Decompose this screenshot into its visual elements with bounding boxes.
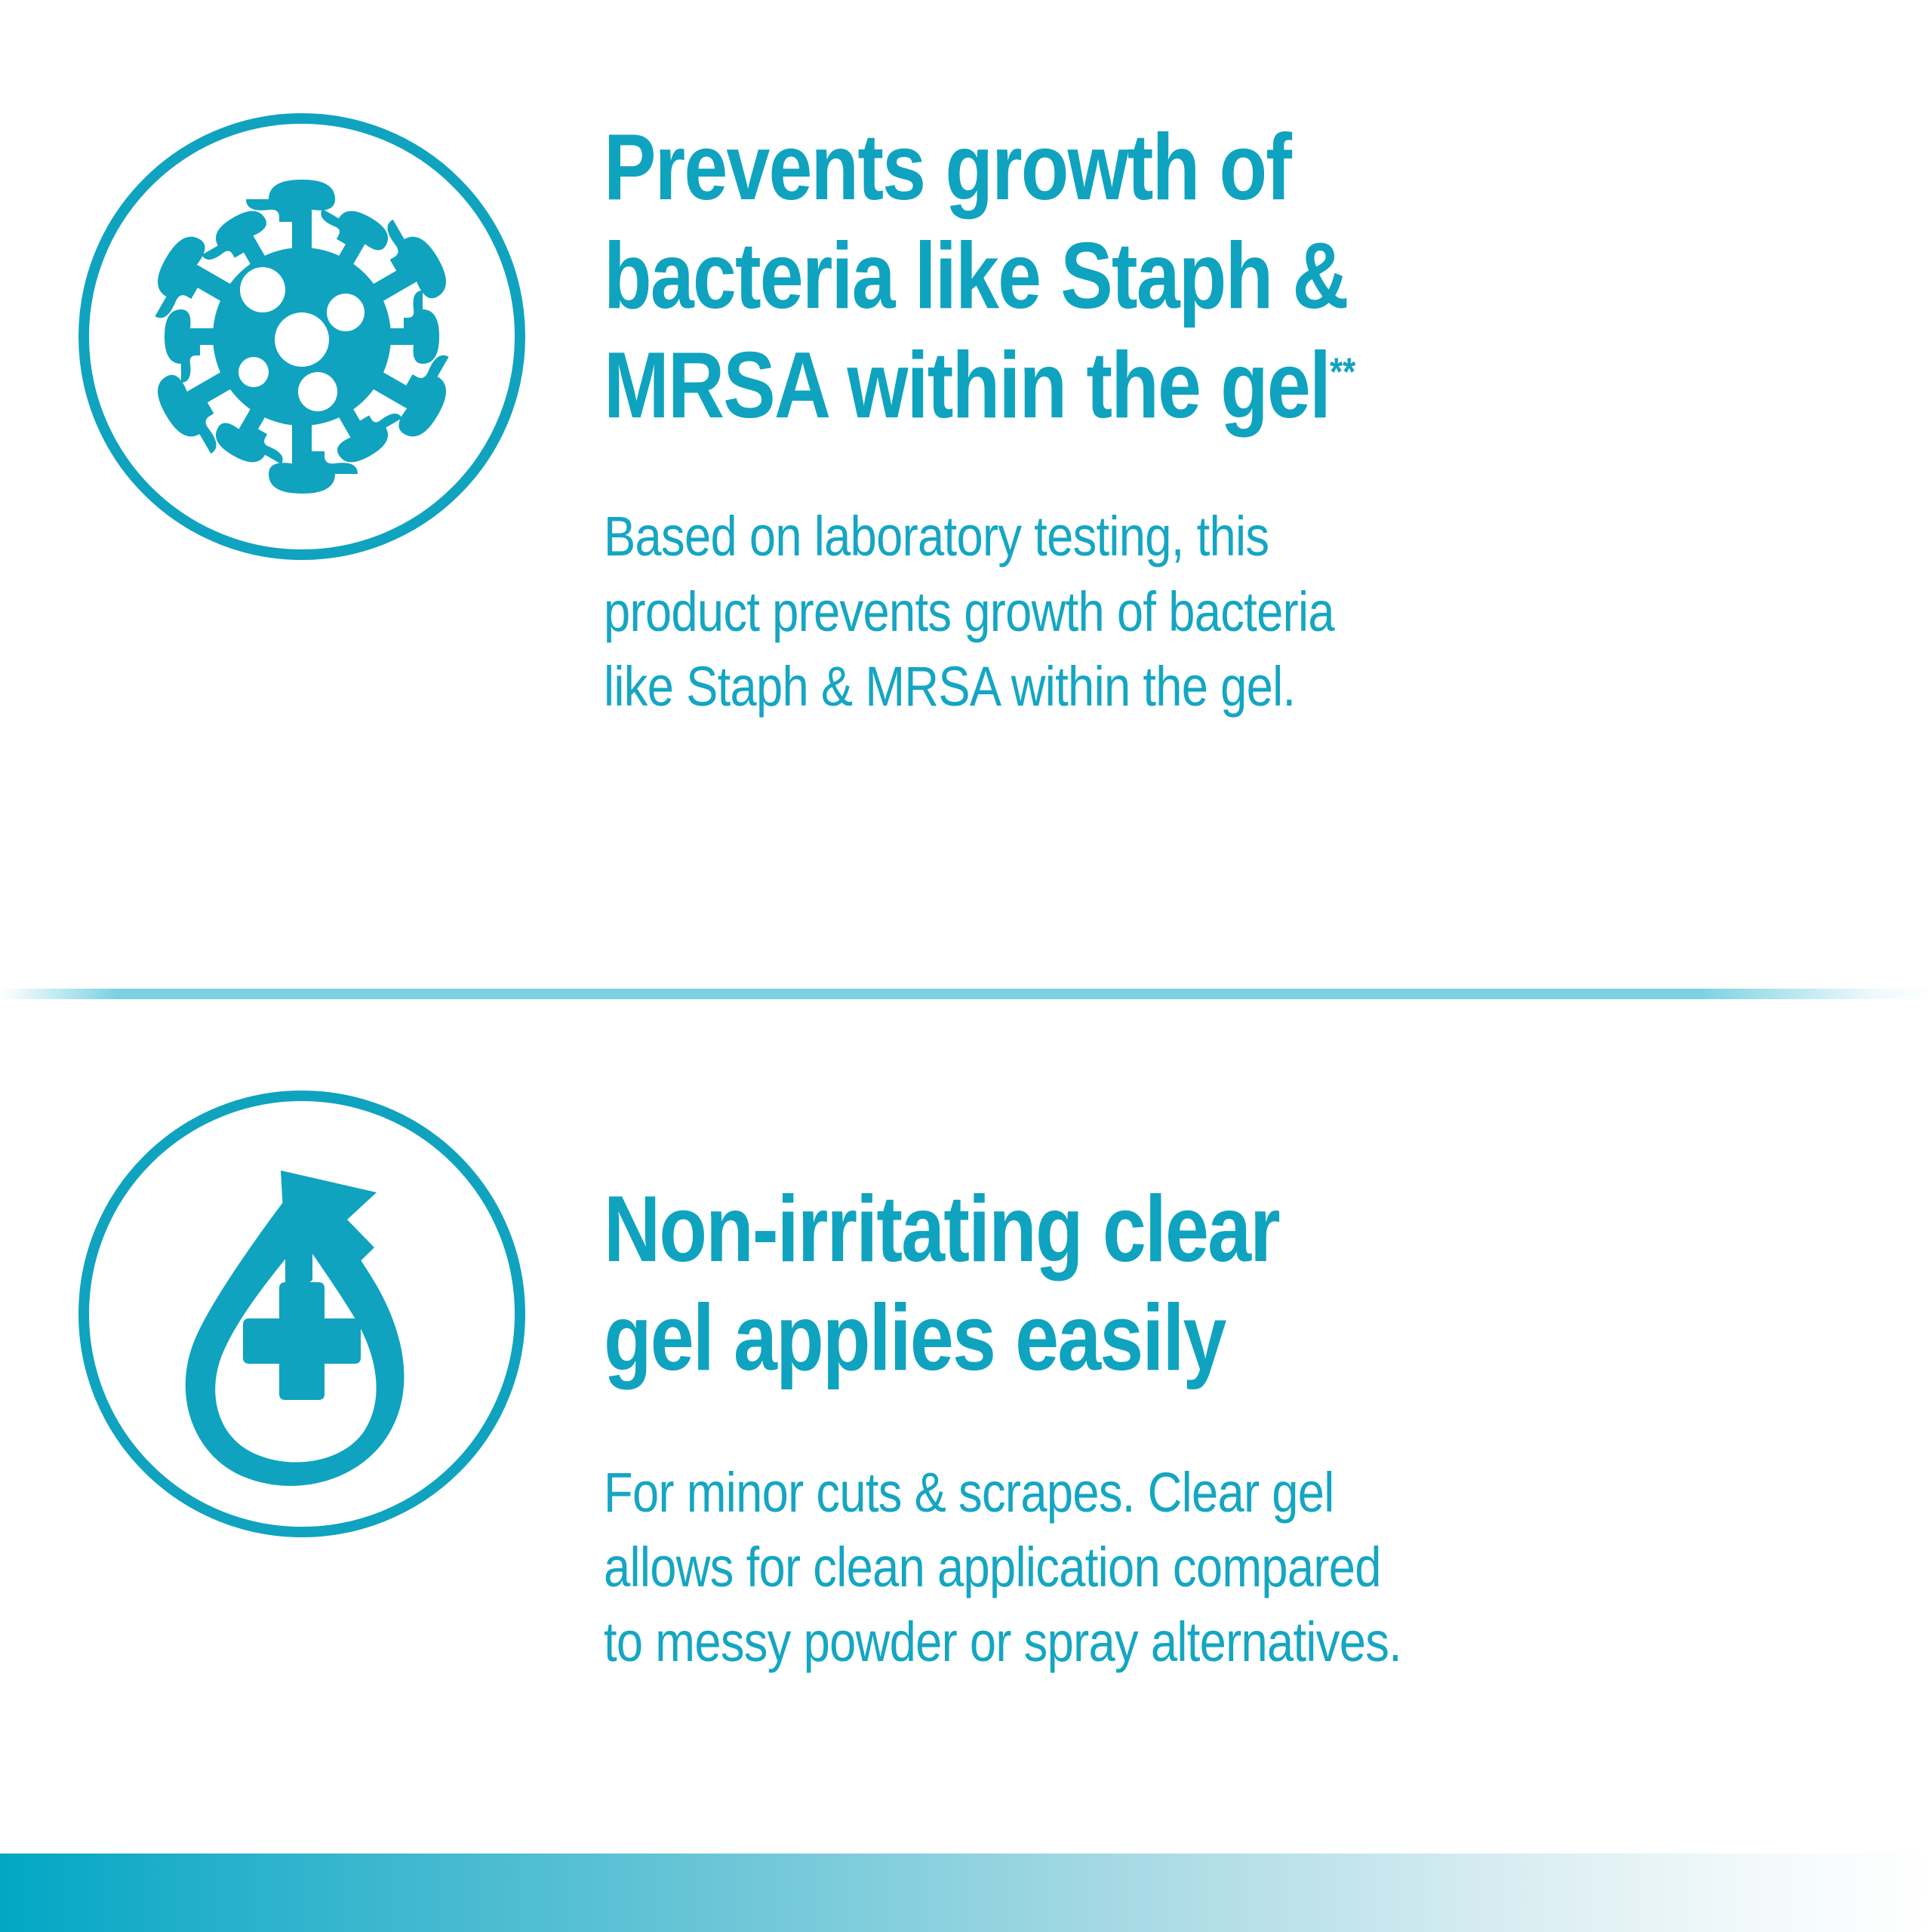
feature-headline-text-1: Prevents growth of bacteria like Staph &… [604,115,1348,438]
virus-bacteria-icon [78,113,525,560]
section-divider [0,989,1932,999]
feature-headline-1: Prevents growth of bacteria like Staph &… [604,113,1656,440]
feature-block-bacteria: Prevents growth of bacteria like Staph &… [0,113,1932,724]
droplet-cross-arrow-icon [78,1091,525,1537]
feature-body-2: For minor cuts & scrapes. Clear gel allo… [604,1455,1675,1679]
headline-footnote-marker: ** [1330,351,1355,395]
medical-cross [243,1282,361,1400]
feature-icon-container-2 [0,1091,604,1537]
feature-icon-container-1 [0,113,604,560]
feature-headline-2: Non-irritating clear gel applies easily [604,1175,1656,1393]
feature-text-container-2: Non-irritating clear gel applies easily … [604,1091,1932,1679]
bottom-accent-bar [0,1854,1932,1932]
feature-headline-text-2: Non-irritating clear gel applies easily [604,1177,1279,1390]
feature-block-gel: Non-irritating clear gel applies easily … [0,1091,1932,1679]
product-benefits-panel: Prevents growth of bacteria like Staph &… [0,0,1932,1932]
feature-text-container-1: Prevents growth of bacteria like Staph &… [604,113,1932,724]
feature-body-1: Based on laboratory testing, this produc… [604,499,1675,723]
